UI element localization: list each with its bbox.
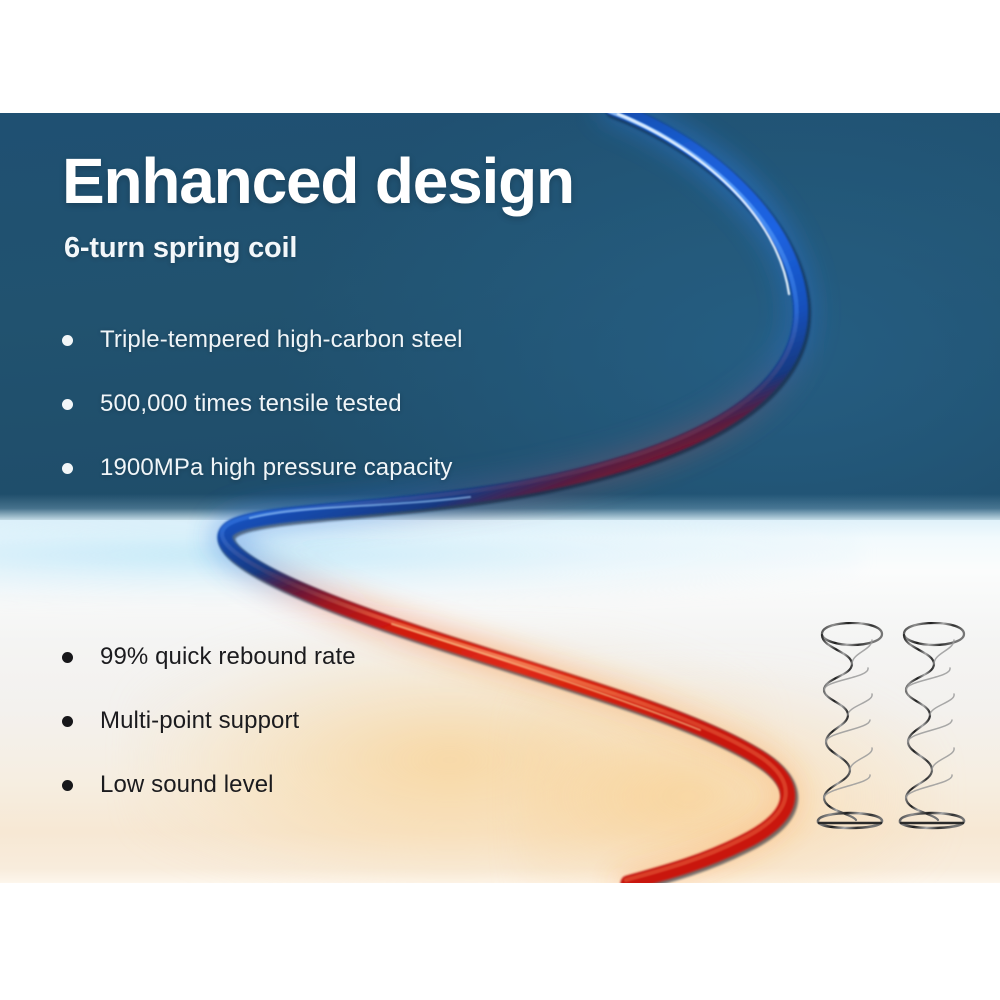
list-item: 1900MPa high pressure capacity <box>62 436 463 500</box>
feature-label: Multi-point support <box>100 707 299 735</box>
bullet-dot-icon <box>62 716 73 727</box>
feature-label: Low sound level <box>100 771 274 799</box>
bullet-dot-icon <box>62 463 73 474</box>
feature-list-bottom: 99% quick rebound rate Multi-point suppo… <box>62 625 356 817</box>
spring-coil-right <box>900 623 964 828</box>
spring-coil-left <box>818 623 882 828</box>
product-feature-poster: Enhanced design 6-turn spring coil Tripl… <box>0 0 1000 1000</box>
cool-glow <box>0 520 860 600</box>
feature-list-top: Triple-tempered high-carbon steel 500,00… <box>62 308 463 500</box>
bullet-dot-icon <box>62 399 73 410</box>
list-item: Multi-point support <box>62 689 356 753</box>
page-title: Enhanced design <box>62 148 574 215</box>
bullet-dot-icon <box>62 335 73 346</box>
feature-label: 1900MPa high pressure capacity <box>100 454 453 482</box>
list-item: 99% quick rebound rate <box>62 625 356 689</box>
feature-label: 99% quick rebound rate <box>100 643 356 671</box>
list-item: Low sound level <box>62 753 356 817</box>
feature-label: 500,000 times tensile tested <box>100 390 402 418</box>
list-item: 500,000 times tensile tested <box>62 372 463 436</box>
bullet-dot-icon <box>62 780 73 791</box>
feature-label: Triple-tempered high-carbon steel <box>100 326 463 354</box>
spring-coil-pair <box>812 622 972 838</box>
bullet-dot-icon <box>62 652 73 663</box>
list-item: Triple-tempered high-carbon steel <box>62 308 463 372</box>
page-subtitle: 6-turn spring coil <box>64 232 297 265</box>
